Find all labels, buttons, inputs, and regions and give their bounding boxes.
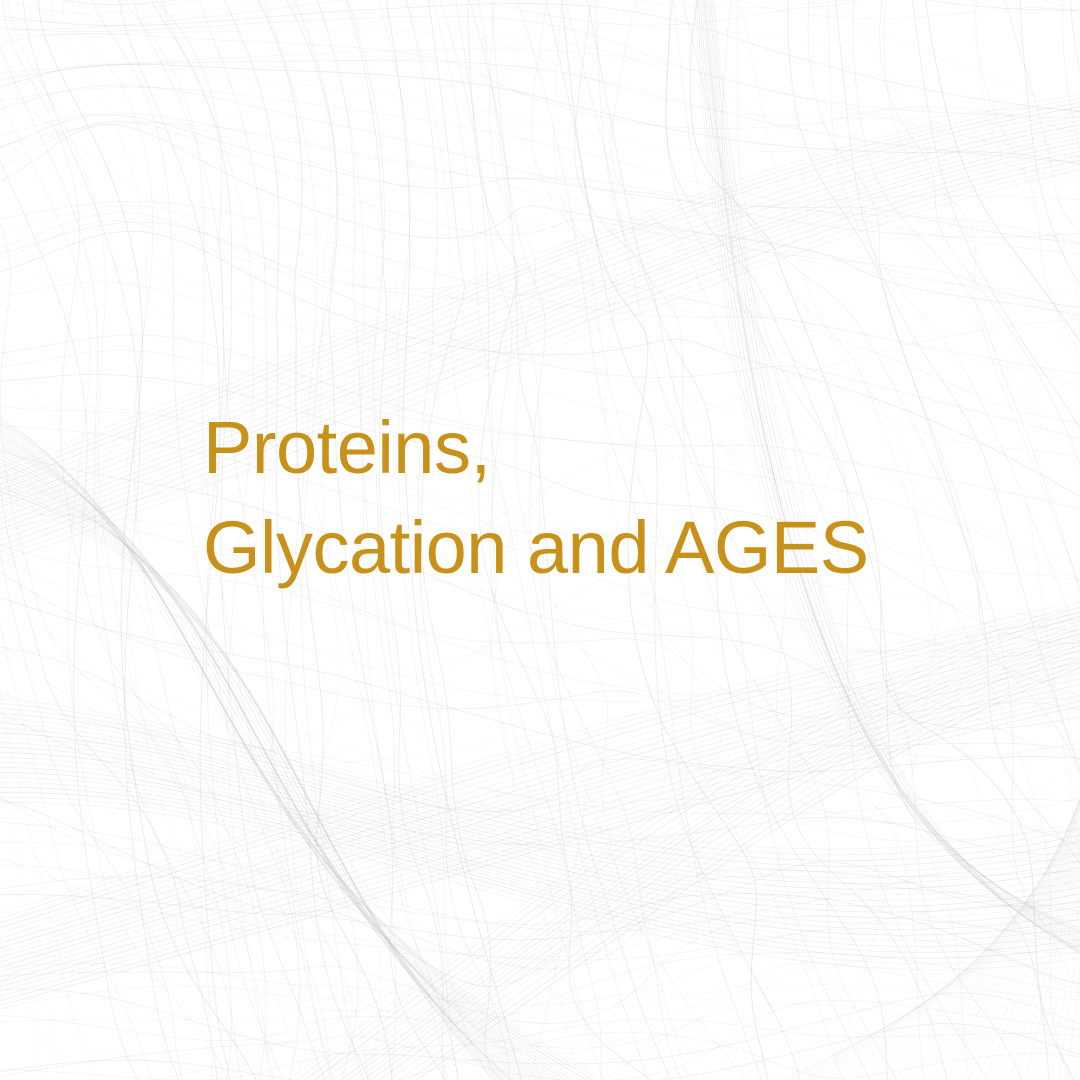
title-line-2: Glycation and AGES <box>203 498 963 598</box>
title-slide: Proteins, Glycation and AGES <box>0 0 1080 1080</box>
title-line-1: Proteins, <box>203 398 963 498</box>
title-block: Proteins, Glycation and AGES <box>203 398 963 598</box>
